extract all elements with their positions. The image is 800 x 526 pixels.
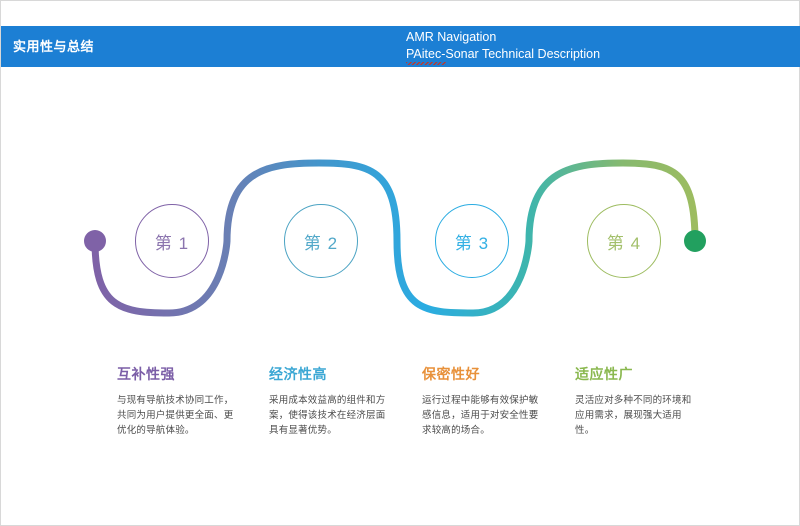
- step-column-3: 保密性好 运行过程中能够有效保护敏感信息，适用于对安全性要求较高的场合。: [422, 364, 540, 438]
- step-badge-label-4: 第 4: [607, 229, 641, 254]
- header-subtitle-line-1: AMR Navigation: [406, 29, 600, 46]
- step-badge-4[interactable]: 第 4: [587, 204, 661, 278]
- step-heading-4: 适应性广: [575, 364, 693, 384]
- step-badge-label-3: 第 3: [455, 229, 489, 254]
- step-badge-label-2: 第 2: [304, 229, 338, 254]
- step-badge-3[interactable]: 第 3: [435, 204, 509, 278]
- step-body-2: 采用成本效益高的组件和方案，使得该技术在经济层面具有显著优势。: [269, 393, 387, 438]
- step-column-4: 适应性广 灵活应对多种不同的环境和应用需求，展现强大适用性。: [575, 364, 693, 438]
- ribbon-end-dot: [684, 230, 706, 252]
- step-body-3: 运行过程中能够有效保护敏感信息，适用于对安全性要求较高的场合。: [422, 393, 540, 438]
- slide-header-bar: 实用性与总结 AMR Navigation PAitec-Sonar Techn…: [1, 26, 800, 67]
- step-heading-2: 经济性高: [269, 364, 387, 384]
- step-badge-2[interactable]: 第 2: [284, 204, 358, 278]
- spellcheck-squiggle-icon: [406, 62, 446, 65]
- step-badge-label-1: 第 1: [155, 229, 189, 254]
- step-heading-1: 互补性强: [117, 364, 235, 384]
- process-ribbon: [1, 121, 800, 351]
- header-subtitle-line-2: PAitec-Sonar Technical Description: [406, 47, 600, 61]
- slide-canvas: 实用性与总结 AMR Navigation PAitec-Sonar Techn…: [0, 0, 800, 526]
- step-column-1: 互补性强 与现有导航技术协同工作，共同为用户提供更全面、更优化的导航体验。: [117, 364, 235, 438]
- step-body-1: 与现有导航技术协同工作，共同为用户提供更全面、更优化的导航体验。: [117, 393, 235, 438]
- ribbon-start-dot: [84, 230, 106, 252]
- step-badge-1[interactable]: 第 1: [135, 204, 209, 278]
- step-column-2: 经济性高 采用成本效益高的组件和方案，使得该技术在经济层面具有显著优势。: [269, 364, 387, 438]
- ribbon-svg: [1, 121, 800, 351]
- page-title: 实用性与总结: [13, 36, 94, 55]
- step-heading-3: 保密性好: [422, 364, 540, 384]
- step-body-4: 灵活应对多种不同的环境和应用需求，展现强大适用性。: [575, 393, 693, 438]
- header-subtitle: AMR Navigation PAitec-Sonar Technical De…: [406, 29, 600, 63]
- header-subtitle-line-2-wrap: PAitec-Sonar Technical Description: [406, 46, 600, 63]
